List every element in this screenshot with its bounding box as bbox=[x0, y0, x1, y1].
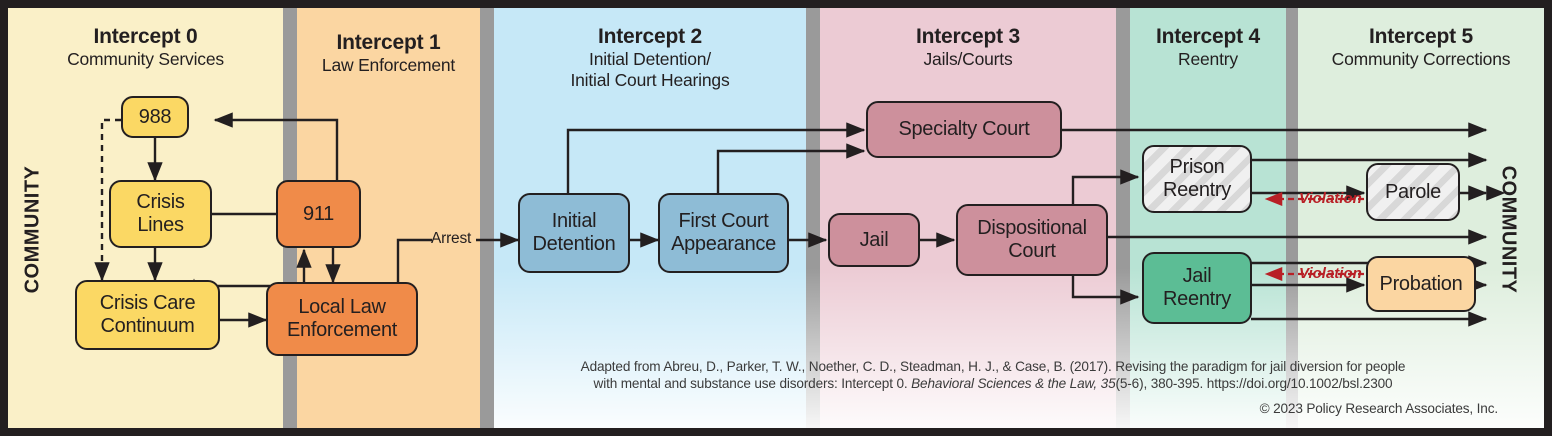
citation-text: Adapted from Abreu, D., Parker, T. W., N… bbox=[488, 358, 1498, 392]
citation-line-2-post: (5-6), 380-395. https://doi.org/10.1002/… bbox=[1116, 376, 1393, 391]
citation-line-2: with mental and substance use disorders:… bbox=[488, 375, 1498, 392]
node-prison-reentry[interactable]: Prison Reentry bbox=[1142, 145, 1252, 213]
node-label-line-2: Lines bbox=[137, 214, 183, 237]
node-label-line-2: Enforcement bbox=[287, 319, 397, 342]
node-label: Probation bbox=[1380, 273, 1463, 296]
node-label: Parole bbox=[1385, 181, 1441, 204]
node-label-line-2: Reentry bbox=[1163, 179, 1231, 202]
violation-label-parole: Violation bbox=[1299, 190, 1362, 207]
node-label-line-1: Initial bbox=[552, 210, 597, 233]
sequential-intercept-model-diagram: Intercept 0 Community Services Intercept… bbox=[0, 0, 1552, 436]
node-label-line-1: Crisis Care bbox=[100, 292, 196, 315]
node-probation[interactable]: Probation bbox=[1366, 256, 1476, 312]
node-label-line-2: Continuum bbox=[100, 315, 194, 338]
node-first-court-appearance[interactable]: First Court Appearance bbox=[658, 193, 789, 273]
node-dispositional-court[interactable]: Dispositional Court bbox=[956, 204, 1108, 276]
violation-label-probation: Violation bbox=[1299, 265, 1362, 282]
node-label-line-1: Prison bbox=[1170, 156, 1225, 179]
node-911[interactable]: 911 bbox=[276, 180, 361, 248]
node-label-line-1: Local Law bbox=[298, 296, 385, 319]
node-specialty-court[interactable]: Specialty Court bbox=[866, 101, 1062, 158]
diagram-canvas: Intercept 0 Community Services Intercept… bbox=[8, 8, 1544, 428]
node-initial-detention[interactable]: Initial Detention bbox=[518, 193, 630, 273]
node-local-law-enforcement[interactable]: Local Law Enforcement bbox=[266, 282, 418, 356]
node-label-line-2: Detention bbox=[533, 233, 616, 256]
node-crisis-care-continuum[interactable]: Crisis Care Continuum bbox=[75, 280, 220, 350]
edge-label-arrest: Arrest bbox=[431, 230, 471, 248]
node-jail-reentry[interactable]: Jail Reentry bbox=[1142, 252, 1252, 324]
citation-line-2-pre: with mental and substance use disorders:… bbox=[594, 376, 912, 391]
node-label-line-2: Court bbox=[1008, 240, 1055, 263]
node-label-line-1: Jail bbox=[1183, 265, 1212, 288]
node-label: 988 bbox=[139, 106, 171, 129]
node-parole[interactable]: Parole bbox=[1366, 163, 1460, 221]
node-label: Specialty Court bbox=[898, 118, 1029, 141]
node-label-line-2: Reentry bbox=[1163, 288, 1231, 311]
node-label-line-1: Crisis bbox=[136, 191, 184, 214]
citation-journal: Behavioral Sciences & the Law, 35 bbox=[911, 376, 1115, 391]
citation-line-1: Adapted from Abreu, D., Parker, T. W., N… bbox=[488, 358, 1498, 375]
node-jail[interactable]: Jail bbox=[828, 213, 920, 267]
node-crisis-lines[interactable]: Crisis Lines bbox=[109, 180, 212, 248]
node-label-line-1: First Court bbox=[678, 210, 768, 233]
node-label-line-1: Dispositional bbox=[977, 217, 1087, 240]
copyright-text: © 2023 Policy Research Associates, Inc. bbox=[488, 400, 1498, 417]
node-label-line-2: Appearance bbox=[671, 233, 776, 256]
node-label: Jail bbox=[860, 229, 889, 252]
node-988[interactable]: 988 bbox=[121, 96, 189, 138]
node-label: 911 bbox=[303, 203, 334, 226]
